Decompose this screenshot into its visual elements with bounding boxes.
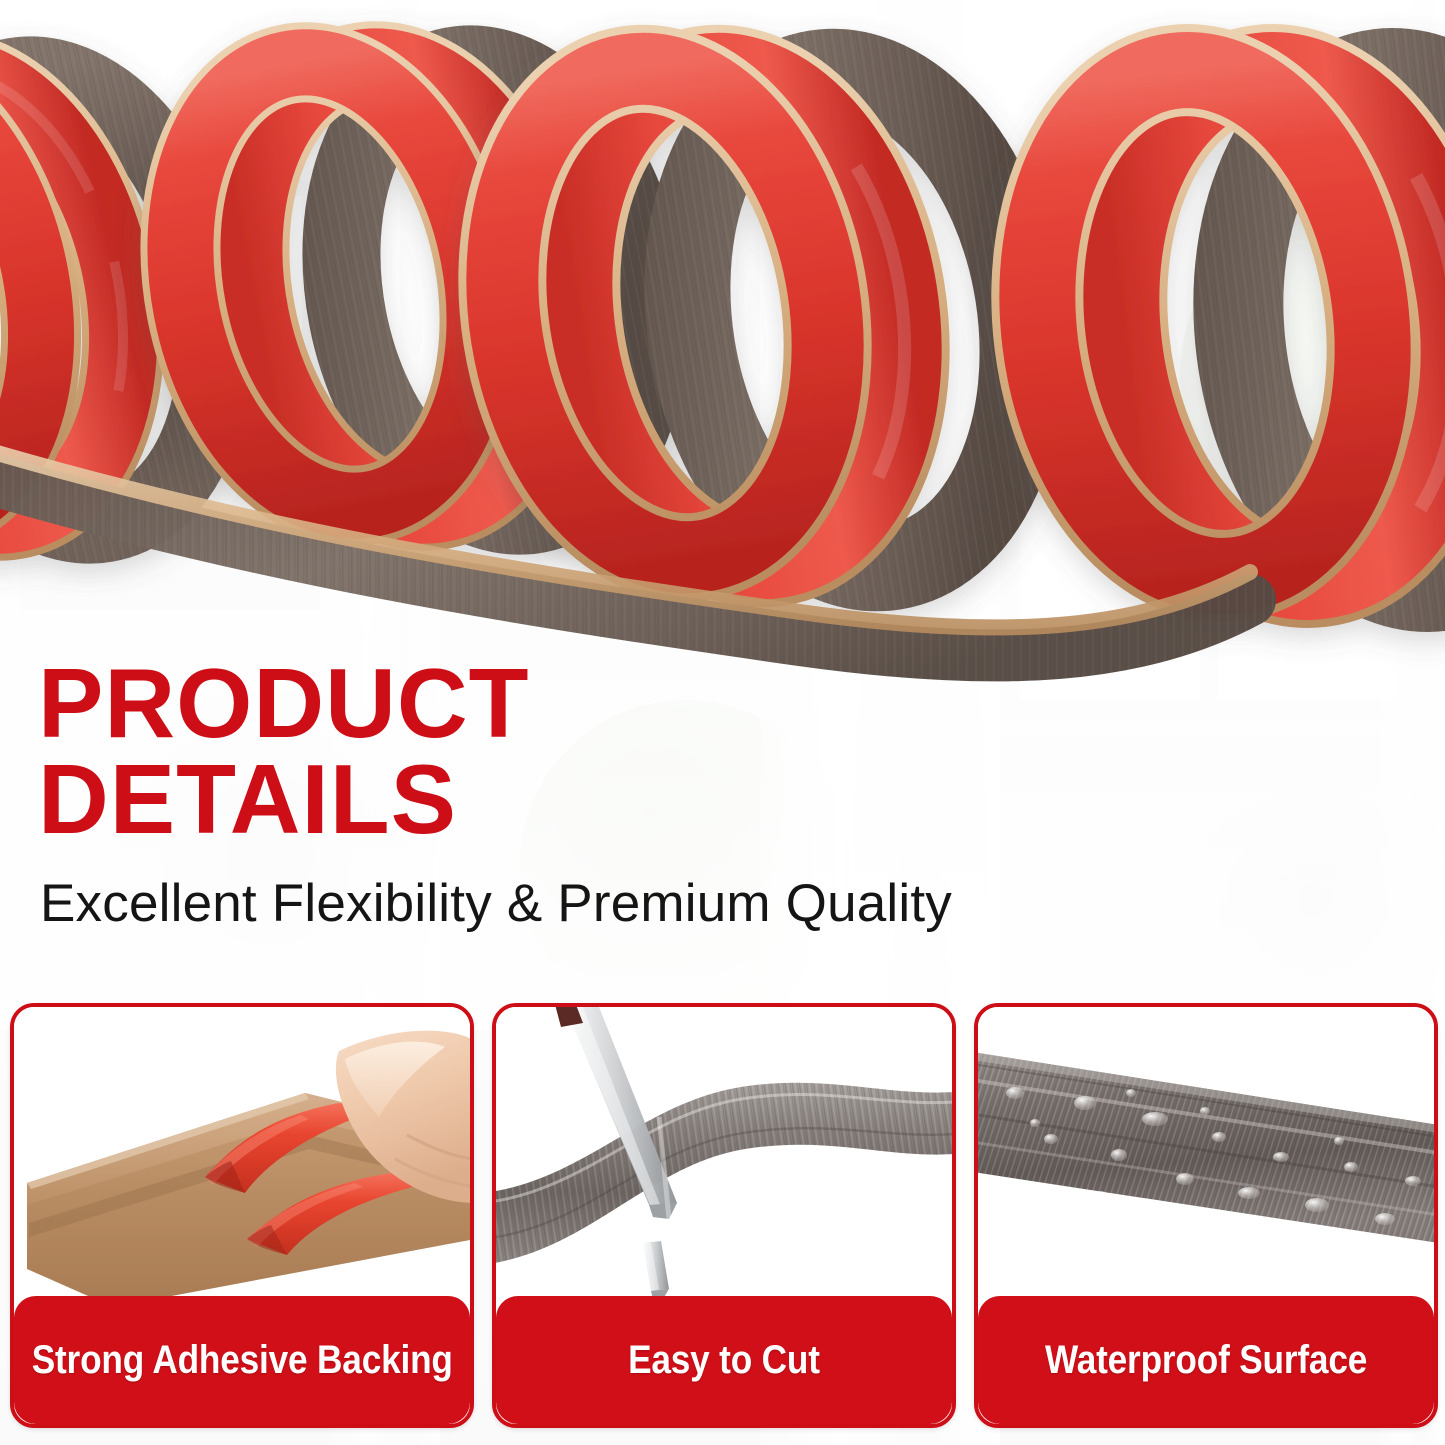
peel-liner-icon (14, 1007, 470, 1322)
feature-caption-text: Waterproof Surface (1045, 1338, 1367, 1383)
feature-panel-row: Strong Adhesive Backing (10, 1003, 1438, 1428)
page-title-line1: PRODUCT (38, 655, 1218, 751)
feature-caption-text: Easy to Cut (628, 1338, 820, 1383)
feature-caption-waterproof: Waterproof Surface (978, 1296, 1434, 1424)
feature-panel-waterproof[interactable]: Waterproof Surface (974, 1003, 1438, 1428)
feature-panel-adhesive[interactable]: Strong Adhesive Backing (10, 1003, 474, 1428)
page-title-line2: DETAILS (38, 751, 1218, 847)
feature-caption-adhesive: Strong Adhesive Backing (14, 1296, 470, 1424)
water-drop-icon (978, 1007, 1434, 1322)
product-detail-image: PRODUCT DETAILS Excellent Flexibility & … (0, 0, 1445, 1445)
headline-block: PRODUCT DETAILS Excellent Flexibility & … (38, 655, 1218, 934)
coil-3 (468, 45, 1057, 593)
hero-coil-illustration (0, 0, 1445, 700)
scissors-icon (496, 1007, 952, 1322)
feature-panel-cut[interactable]: Easy to Cut (492, 1003, 956, 1428)
page-subtitle: Excellent Flexibility & Premium Quality (40, 873, 1218, 934)
coil-4 (1009, 51, 1445, 607)
feature-caption-text: Strong Adhesive Backing (31, 1338, 452, 1383)
feature-caption-cut: Easy to Cut (496, 1296, 952, 1424)
